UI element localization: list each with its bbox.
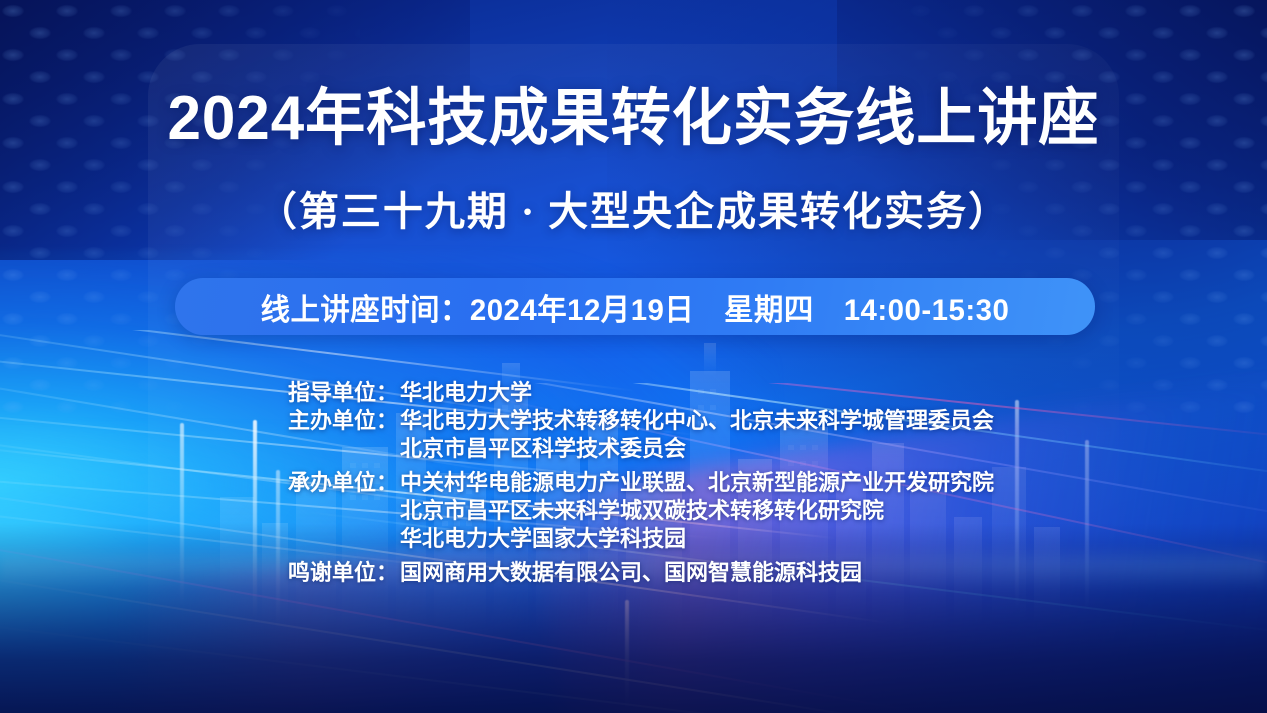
lecture-time-banner: 线上讲座时间：2024年12月19日 星期四 14:00-15:30 [175, 278, 1095, 335]
org-value: 北京市昌平区未来科学城双碳技术转移转化研究院 [398, 500, 884, 522]
org-value: 华北电力大学技术转移转化中心、北京未来科学城管理委员会 [398, 410, 994, 432]
org-value: 中关村华电能源电力产业联盟、北京新型能源产业开发研究院 [398, 472, 994, 494]
organization-list: 指导单位： 华北电力大学 主办单位： 华北电力大学技术转移转化中心、北京未来科学… [0, 382, 1267, 590]
poster-content: 2024年科技成果转化实务线上讲座 （第三十九期 · 大型央企成果转化实务） 线… [0, 0, 1267, 713]
org-row-organizer-cont-2: 华北电力大学国家大学科技园 [0, 528, 1267, 550]
poster-title: 2024年科技成果转化实务线上讲座 [19, 86, 1248, 153]
org-value: 国网商用大数据有限公司、国网智慧能源科技园 [398, 562, 862, 584]
org-row-organizer: 承办单位： 中关村华电能源电力产业联盟、北京新型能源产业开发研究院 [0, 472, 1267, 494]
org-row-acknowledgement: 鸣谢单位： 国网商用大数据有限公司、国网智慧能源科技园 [0, 562, 1267, 584]
lecture-time-text: 线上讲座时间：2024年12月19日 星期四 14:00-15:30 [261, 285, 1010, 329]
org-row-host: 主办单位： 华北电力大学技术转移转化中心、北京未来科学城管理委员会 [0, 410, 1267, 432]
org-value: 北京市昌平区科学技术委员会 [398, 438, 686, 460]
org-label: 鸣谢单位： [0, 562, 398, 584]
org-row-host-cont: 北京市昌平区科学技术委员会 [0, 438, 1267, 460]
poster-canvas: 2024年科技成果转化实务线上讲座 （第三十九期 · 大型央企成果转化实务） 线… [0, 0, 1267, 713]
org-row-organizer-cont-1: 北京市昌平区未来科学城双碳技术转移转化研究院 [0, 500, 1267, 522]
org-label: 主办单位： [0, 410, 398, 432]
org-label: 指导单位： [0, 382, 398, 404]
poster-subtitle: （第三十九期 · 大型央企成果转化实务） [0, 188, 1267, 236]
org-label: 承办单位： [0, 472, 398, 494]
org-value: 华北电力大学国家大学科技园 [398, 528, 686, 550]
org-value: 华北电力大学 [398, 382, 532, 404]
org-row-guidance: 指导单位： 华北电力大学 [0, 382, 1267, 404]
